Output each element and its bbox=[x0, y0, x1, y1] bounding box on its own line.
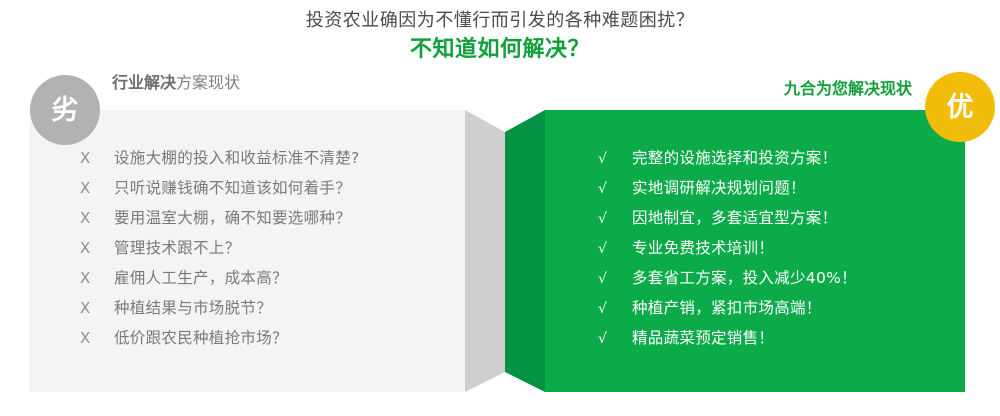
list-item: √ 因地制宜，多套适宜型方案！ bbox=[598, 203, 968, 233]
comparison-banner: 投资农业确因为不懂行而引发的各种难题困扰？ 不知道如何解决？ 劣 优 行业解决方… bbox=[0, 0, 1000, 416]
cross-icon: X bbox=[80, 263, 114, 293]
solution-text: 完整的设施选择和投资方案！ bbox=[632, 143, 837, 173]
list-item: X 管理技术跟不上？ bbox=[80, 233, 460, 263]
solution-text: 实地调研解决规划问题！ bbox=[632, 173, 806, 203]
headline-emphasis: 不知道如何解决？ bbox=[0, 34, 1000, 66]
solution-text: 精品蔬菜预定销售！ bbox=[632, 323, 774, 353]
problem-text: 种植结果与市场脱节？ bbox=[114, 293, 272, 323]
cross-icon: X bbox=[80, 233, 114, 263]
problem-text: 低价跟农民种植抢市场？ bbox=[114, 323, 288, 353]
cross-icon: X bbox=[80, 293, 114, 323]
list-item: √ 实地调研解决规划问题！ bbox=[598, 173, 968, 203]
solutions-heading: 九合为您解决现状 bbox=[650, 78, 912, 100]
solution-text: 种植产销，紧扣市场高端！ bbox=[632, 293, 822, 323]
list-item: √ 多套省工方案，投入减少40%！ bbox=[598, 263, 968, 293]
problems-heading-rest: 方案现状 bbox=[176, 73, 240, 92]
problem-text: 设施大棚的投入和收益标准不清楚? bbox=[114, 143, 360, 173]
problems-list: X 设施大棚的投入和收益标准不清楚? X 只听说赚钱确不知道该如何着手？ X 要… bbox=[80, 143, 460, 353]
problem-text: 要用温室大棚，确不知要选哪种？ bbox=[114, 203, 351, 233]
check-icon: √ bbox=[598, 174, 632, 204]
badge-good: 优 bbox=[925, 72, 995, 142]
problems-heading-strong: 行业解决 bbox=[112, 73, 176, 92]
list-item: X 雇佣人工生产，成本高？ bbox=[80, 263, 460, 293]
list-item: X 低价跟农民种植抢市场？ bbox=[80, 323, 460, 353]
cross-icon: X bbox=[80, 323, 114, 353]
fold-green-shadow bbox=[505, 110, 545, 392]
badge-bad: 劣 bbox=[30, 75, 100, 145]
check-icon: √ bbox=[598, 144, 632, 174]
list-item: X 种植结果与市场脱节？ bbox=[80, 293, 460, 323]
check-icon: √ bbox=[598, 234, 632, 264]
problem-text: 管理技术跟不上？ bbox=[114, 233, 240, 263]
list-item: √ 专业免费技术培训！ bbox=[598, 233, 968, 263]
list-item: X 要用温室大棚，确不知要选哪种？ bbox=[80, 203, 460, 233]
check-icon: √ bbox=[598, 294, 632, 324]
headline-question: 投资农业确因为不懂行而引发的各种难题困扰？ bbox=[0, 8, 1000, 34]
fold-divider bbox=[465, 88, 545, 416]
badge-good-label: 优 bbox=[947, 94, 974, 121]
list-item: √ 种植产销，紧扣市场高端！ bbox=[598, 293, 968, 323]
list-item: √ 精品蔬菜预定销售！ bbox=[598, 323, 968, 353]
cross-icon: X bbox=[80, 173, 114, 203]
cross-icon: X bbox=[80, 143, 114, 173]
problem-text: 雇佣人工生产，成本高？ bbox=[114, 263, 288, 293]
badge-bad-label: 劣 bbox=[52, 97, 79, 124]
check-icon: √ bbox=[598, 204, 632, 234]
solutions-list: √ 完整的设施选择和投资方案！ √ 实地调研解决规划问题！ √ 因地制宜，多套适… bbox=[598, 143, 968, 353]
list-item: X 只听说赚钱确不知道该如何着手？ bbox=[80, 173, 460, 203]
solution-text: 专业免费技术培训！ bbox=[632, 233, 774, 263]
solution-text: 因地制宜，多套适宜型方案！ bbox=[632, 203, 837, 233]
list-item: X 设施大棚的投入和收益标准不清楚? bbox=[80, 143, 460, 173]
solution-text: 多套省工方案，投入减少40%！ bbox=[632, 263, 857, 293]
cross-icon: X bbox=[80, 203, 114, 233]
fold-gray-shadow bbox=[465, 110, 505, 392]
problem-text: 只听说赚钱确不知道该如何着手？ bbox=[114, 173, 351, 203]
headline-block: 投资农业确因为不懂行而引发的各种难题困扰？ 不知道如何解决？ bbox=[0, 8, 1000, 66]
problems-heading: 行业解决方案现状 bbox=[112, 72, 240, 94]
check-icon: √ bbox=[598, 264, 632, 294]
check-icon: √ bbox=[598, 324, 632, 354]
list-item: √ 完整的设施选择和投资方案！ bbox=[598, 143, 968, 173]
